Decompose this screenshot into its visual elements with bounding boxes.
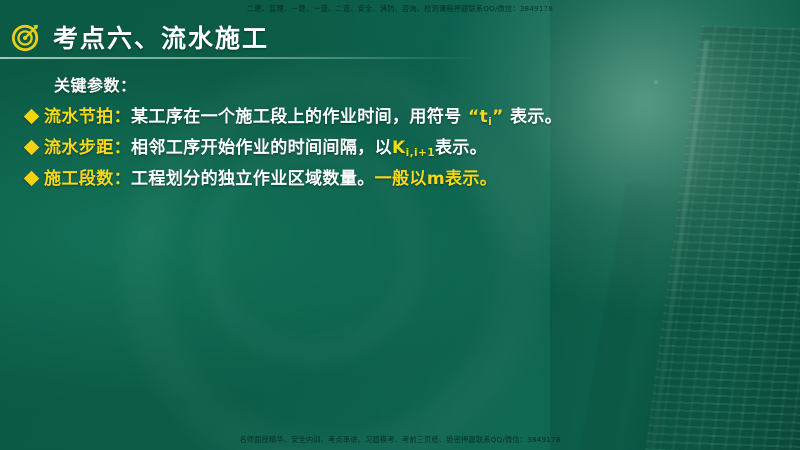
slide-header: 考点六、流水施工: [0, 18, 800, 56]
lead-label: 关键参数：: [54, 72, 566, 96]
bullet-text: 施工段数：工程划分的独立作业区域数量。一般以m表示。: [44, 167, 497, 191]
bullet-body-tail: 表示。: [510, 107, 562, 127]
promo-banner-bottom: 名师面授精华、安全内训、考点串讲、习题模考、考前三页纸、绝密押题联系QQ/微信：…: [0, 436, 800, 443]
bullet-body: 某工序在一个施工段上的作业时间，用符号: [131, 107, 462, 127]
quote-open: “: [468, 107, 480, 127]
page-title: 考点六、流水施工: [53, 19, 269, 55]
symbol-base: t: [480, 107, 489, 127]
list-item: 流水步距：相邻工序开始作业的时间间隔，以Ki,i+1表示。: [26, 136, 566, 160]
bullet-body: 相邻工序开始作业的时间间隔，以: [131, 138, 392, 158]
slide-body: 关键参数： 流水节拍：某工序在一个施工段上的作业时间，用符号 “ti” 表示。 …: [26, 72, 566, 198]
bullet-term: 流水步距: [44, 138, 114, 158]
target-bullseye-icon: [11, 22, 41, 52]
symbol-subscript: i,i+1: [406, 147, 435, 159]
bullet-colon: ：: [114, 107, 131, 127]
slide-canvas: 二建、监理、一建、一造、二造、安全、消防、咨询、检测课程押题联系QQ/微信：38…: [0, 0, 800, 450]
bullet-term: 流水节拍: [44, 107, 114, 127]
title-divider: [0, 57, 480, 59]
symbol-subscript: i: [488, 116, 492, 128]
bullet-colon: ：: [114, 138, 131, 158]
bullet-text: 流水步距：相邻工序开始作业的时间间隔，以Ki,i+1表示。: [44, 136, 487, 160]
bullet-emphasis: 一般以m表示。: [375, 169, 498, 189]
bullet-text: 流水节拍：某工序在一个施工段上的作业时间，用符号 “ti” 表示。: [44, 105, 562, 129]
promo-banner-top: 二建、监理、一建、一造、二造、安全、消防、咨询、检测课程押题联系QQ/微信：38…: [0, 5, 800, 12]
symbol-base: K: [392, 138, 406, 158]
diamond-bullet-icon: [24, 171, 40, 187]
bullet-body: 工程划分的独立作业区域数量。: [131, 169, 375, 189]
list-item: 施工段数：工程划分的独立作业区域数量。一般以m表示。: [26, 167, 566, 191]
bullet-body-tail: 表示。: [435, 138, 487, 158]
diamond-bullet-icon: [24, 109, 40, 125]
diamond-bullet-icon: [24, 140, 40, 156]
quote-close: ”: [492, 107, 504, 127]
bullet-term: 施工段数: [44, 169, 114, 189]
bullet-colon: ：: [114, 169, 131, 189]
list-item: 流水节拍：某工序在一个施工段上的作业时间，用符号 “ti” 表示。: [26, 105, 566, 129]
